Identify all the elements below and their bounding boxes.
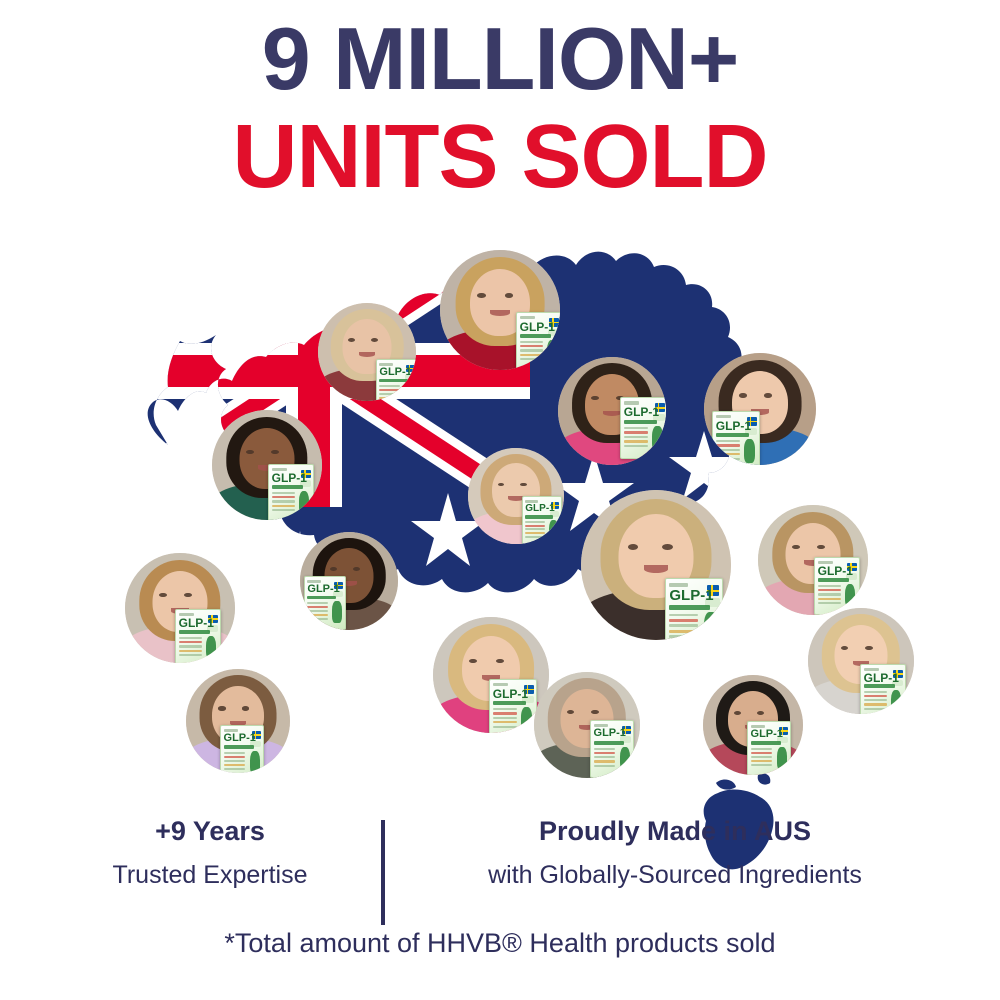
trust-left-block: +9 Years Trusted Expertise <box>60 815 360 891</box>
box-ingredient-rows <box>179 637 202 662</box>
testimonial-avatar[interactable]: GLP-1 <box>758 505 868 615</box>
promo-poster: 9 MILLION+ UNITS SOLD <box>0 0 1000 1000</box>
box-tagline-bar <box>272 485 304 489</box>
footnote-text: *Total amount of HHVB® Health products s… <box>0 928 1000 959</box>
testimonial-avatar[interactable]: GLP-1 <box>534 672 640 778</box>
product-box-glp1: GLP-1 <box>860 664 906 714</box>
box-tagline-bar <box>624 420 657 424</box>
testimonial-avatar[interactable]: GLP-1 <box>300 532 398 630</box>
box-tagline-bar <box>669 605 709 610</box>
box-figure-icon <box>206 636 217 660</box>
box-ingredient-rows <box>272 492 295 517</box>
box-figure-icon <box>299 491 310 515</box>
box-ingredient-rows <box>624 427 648 453</box>
headline-secondary: UNITS SOLD <box>0 112 1000 204</box>
box-figure-icon <box>547 340 558 364</box>
box-tagline-bar <box>818 578 850 582</box>
box-tagline-bar <box>751 741 781 745</box>
years-subtext: Trusted Expertise <box>60 859 360 892</box>
headline-primary: 9 MILLION+ <box>0 14 1000 104</box>
box-product-name: GLP-1 <box>525 504 554 514</box>
box-product-name: GLP-1 <box>716 420 751 432</box>
box-tagline-bar <box>493 701 526 705</box>
box-ingredient-rows <box>224 752 246 773</box>
box-product-name: GLP-1 <box>594 728 626 739</box>
box-tagline-bar <box>594 741 624 745</box>
box-figure-icon <box>777 747 787 770</box>
product-box-glp1: GLP-1 <box>516 312 560 370</box>
box-ingredient-rows <box>716 440 740 465</box>
box-brand-mark <box>520 316 535 319</box>
years-headline: +9 Years <box>60 815 360 849</box>
trust-divider <box>381 820 385 925</box>
headline-block: 9 MILLION+ UNITS SOLD <box>0 14 1000 204</box>
box-ingredient-rows <box>379 385 400 401</box>
box-ingredient-rows <box>751 748 773 772</box>
box-product-name: GLP-1 <box>224 733 256 744</box>
box-figure-icon <box>404 384 414 401</box>
box-product-name: GLP-1 <box>751 729 783 740</box>
testimonial-avatar[interactable]: GLP-1 <box>318 303 416 401</box>
testimonial-avatar[interactable]: GLP-1 <box>704 353 816 465</box>
box-ingredient-rows <box>307 602 328 625</box>
australia-map-stage: GLP-1GLP-1GLP-1GLP-1GLP-1GLP-1GLP-1GLP-1… <box>0 235 1000 875</box>
testimonial-avatar[interactable]: GLP-1 <box>703 675 803 775</box>
product-box-glp1: GLP-1 <box>489 679 537 733</box>
made-in-aus-headline: Proudly Made in AUS <box>410 815 940 849</box>
box-figure-icon <box>549 520 558 541</box>
testimonial-avatar[interactable]: GLP-1 <box>558 357 666 465</box>
product-box-glp1: GLP-1 <box>175 609 221 663</box>
box-ingredient-rows <box>594 748 616 773</box>
box-ingredient-rows <box>864 691 887 714</box>
box-product-name: GLP-1 <box>624 406 659 418</box>
box-tagline-bar <box>525 515 552 519</box>
product-box-glp1: GLP-1 <box>522 496 562 544</box>
box-product-name: GLP-1 <box>179 617 214 629</box>
box-product-name: GLP-1 <box>864 672 899 684</box>
box-figure-icon <box>521 707 532 731</box>
box-product-name: GLP-1 <box>669 588 713 603</box>
box-figure-icon <box>332 601 342 623</box>
box-figure-icon <box>891 690 902 713</box>
box-brand-mark <box>716 415 732 418</box>
box-tagline-bar <box>179 630 211 634</box>
trust-right-block: Proudly Made in AUS with Globally-Source… <box>410 815 940 891</box>
box-product-name: GLP-1 <box>307 584 339 595</box>
box-product-name: GLP-1 <box>818 565 853 577</box>
box-tagline-bar <box>379 379 408 383</box>
box-figure-icon <box>744 439 755 463</box>
box-ingredient-rows <box>525 521 545 543</box>
testimonial-avatar[interactable]: GLP-1 <box>125 553 235 663</box>
trust-row: +9 Years Trusted Expertise Proudly Made … <box>0 815 1000 930</box>
box-ingredient-rows <box>818 585 841 610</box>
box-tagline-bar <box>224 745 254 749</box>
testimonial-avatar[interactable]: GLP-1 <box>468 448 564 544</box>
box-tagline-bar <box>716 433 749 437</box>
box-product-name: GLP-1 <box>493 688 528 700</box>
product-box-glp1: GLP-1 <box>712 411 760 465</box>
product-box-glp1: GLP-1 <box>747 721 791 775</box>
product-box-glp1: GLP-1 <box>665 578 723 640</box>
box-figure-icon <box>250 751 260 773</box>
product-box-glp1: GLP-1 <box>590 720 634 778</box>
box-figure-icon <box>620 747 630 771</box>
ingredients-subtext: with Globally-Sourced Ingredients <box>410 859 940 892</box>
product-box-glp1: GLP-1 <box>304 576 346 630</box>
product-box-glp1: GLP-1 <box>376 359 416 401</box>
product-box-glp1: GLP-1 <box>268 464 314 520</box>
testimonial-avatar[interactable]: GLP-1 <box>440 250 560 370</box>
product-box-glp1: GLP-1 <box>620 397 666 459</box>
box-ingredient-rows <box>520 341 543 367</box>
testimonial-avatar[interactable]: GLP-1 <box>433 617 549 733</box>
testimonial-avatar[interactable]: GLP-1 <box>581 490 731 640</box>
box-tagline-bar <box>307 596 336 600</box>
box-product-name: GLP-1 <box>272 472 307 484</box>
box-product-name: GLP-1 <box>379 367 411 378</box>
box-tagline-bar <box>520 334 552 338</box>
box-ingredient-rows <box>669 614 698 640</box>
box-product-name: GLP-1 <box>520 321 555 333</box>
testimonial-avatar[interactable]: GLP-1 <box>186 669 290 773</box>
product-box-glp1: GLP-1 <box>220 725 264 773</box>
testimonial-avatar[interactable]: GLP-1 <box>212 410 322 520</box>
box-ingredient-rows <box>493 708 517 733</box>
box-brand-mark <box>669 583 688 587</box>
product-box-glp1: GLP-1 <box>814 557 860 615</box>
box-figure-icon <box>845 584 856 608</box>
box-tagline-bar <box>864 684 896 688</box>
testimonial-avatar[interactable]: GLP-1 <box>808 608 914 714</box>
box-figure-icon <box>652 426 663 451</box>
box-figure-icon <box>704 612 717 640</box>
box-brand-mark <box>493 683 509 686</box>
